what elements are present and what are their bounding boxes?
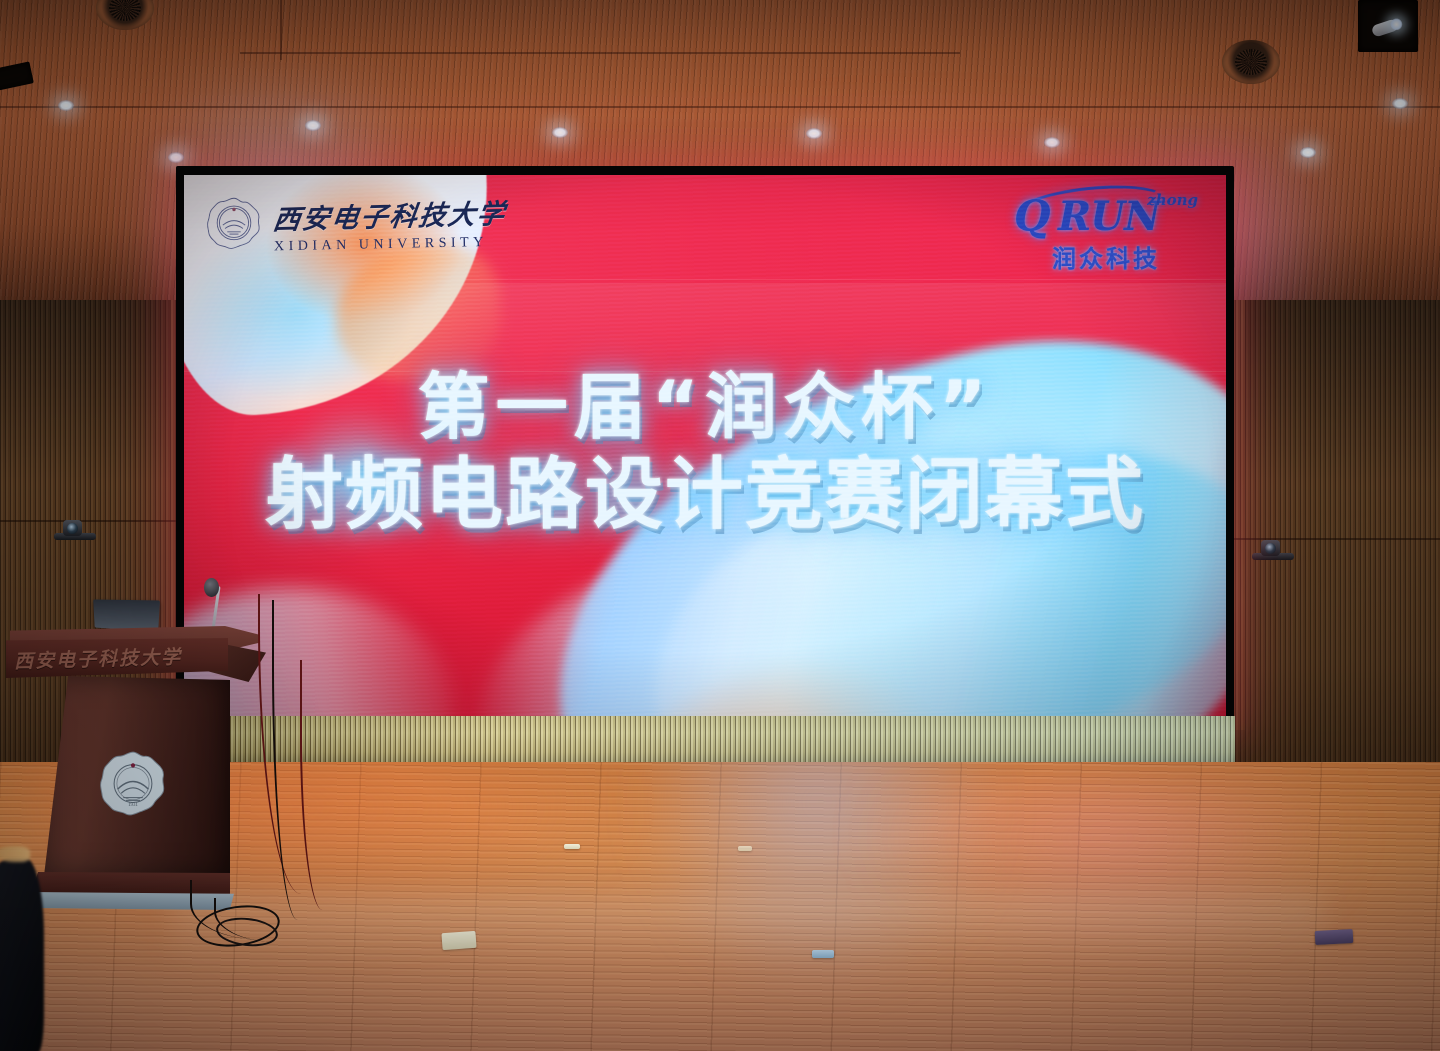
sponsor-name-cn: 润众科技 <box>1012 239 1200 274</box>
ceiling-downlight <box>1300 147 1316 158</box>
stage-back-panel <box>175 716 1235 764</box>
stage-back-panel-texture <box>175 716 1235 764</box>
led-video-wall-display: 西安电子科技大学 XIDIAN UNIVERSITY Q RUN zhong 润… <box>184 175 1226 718</box>
sponsor-mark-q: Q <box>1014 191 1051 240</box>
svg-text:1931: 1931 <box>128 803 138 808</box>
microphone-icon <box>204 578 219 597</box>
sponsor-wordmark: Q RUN zhong <box>1012 189 1200 237</box>
camera-lens <box>67 523 78 534</box>
ptz-camera-icon <box>1252 540 1294 560</box>
sponsor-mark-zhong: zhong <box>1147 191 1198 209</box>
stage-spotlight-icon <box>1371 18 1399 37</box>
event-title: 第一届“润众杯” 射频电路设计竞赛闭幕式 <box>184 371 1226 536</box>
ceiling-downlight <box>305 120 321 131</box>
ceiling-downlight <box>1392 98 1408 109</box>
sponsor-mark-run: RUN <box>1058 193 1160 240</box>
foreground-person-silhouette <box>0 858 44 1051</box>
camera-lens <box>1265 543 1276 554</box>
auditorium-photo: 西安电子科技大学 XIDIAN UNIVERSITY Q RUN zhong 润… <box>0 0 1440 1051</box>
xidian-university-seal-icon <box>206 196 262 252</box>
floor-marker <box>441 931 476 950</box>
event-title-line1: 第一届“润众杯” <box>184 371 1226 444</box>
event-title-line2: 射频电路设计竞赛闭幕式 <box>184 456 1226 536</box>
floor-marker <box>564 844 580 849</box>
ceiling-seam <box>280 0 282 60</box>
ptz-camera-icon <box>54 520 96 540</box>
podium-engraving: 西安电子科技大学 <box>14 641 220 674</box>
floor-outlet-cover <box>1315 929 1354 945</box>
floor-marker <box>738 846 752 851</box>
ceiling-seam <box>240 52 960 54</box>
ceiling-downlight <box>1044 137 1060 148</box>
floor-sheen <box>173 895 1325 970</box>
podium-university-seal-icon: 1931 <box>98 750 168 820</box>
university-name-en: XIDIAN UNIVERSITY <box>274 235 506 256</box>
ceiling-vent-icon <box>1222 40 1280 84</box>
ceiling-seam <box>0 106 1440 108</box>
ceiling-downlight <box>806 128 822 139</box>
ceiling-downlight <box>168 152 184 163</box>
university-name-cn: 西安电子科技大学 <box>271 192 509 237</box>
ceiling-light-recess <box>1358 0 1418 52</box>
university-logo-block: 西安电子科技大学 XIDIAN UNIVERSITY <box>206 195 506 253</box>
floor-marker <box>812 950 834 958</box>
led-video-wall-bezel: 西安电子科技大学 XIDIAN UNIVERSITY Q RUN zhong 润… <box>176 166 1234 726</box>
sponsor-logo-block: Q RUN zhong 润众科技 <box>1012 189 1200 273</box>
podium-monitor <box>93 599 160 631</box>
ceiling-downlight <box>58 100 74 111</box>
ceiling-downlight <box>552 127 568 138</box>
university-name-block: 西安电子科技大学 XIDIAN UNIVERSITY <box>274 195 506 253</box>
wall-trim-line <box>0 520 200 522</box>
foreground-person-hand <box>0 846 30 862</box>
